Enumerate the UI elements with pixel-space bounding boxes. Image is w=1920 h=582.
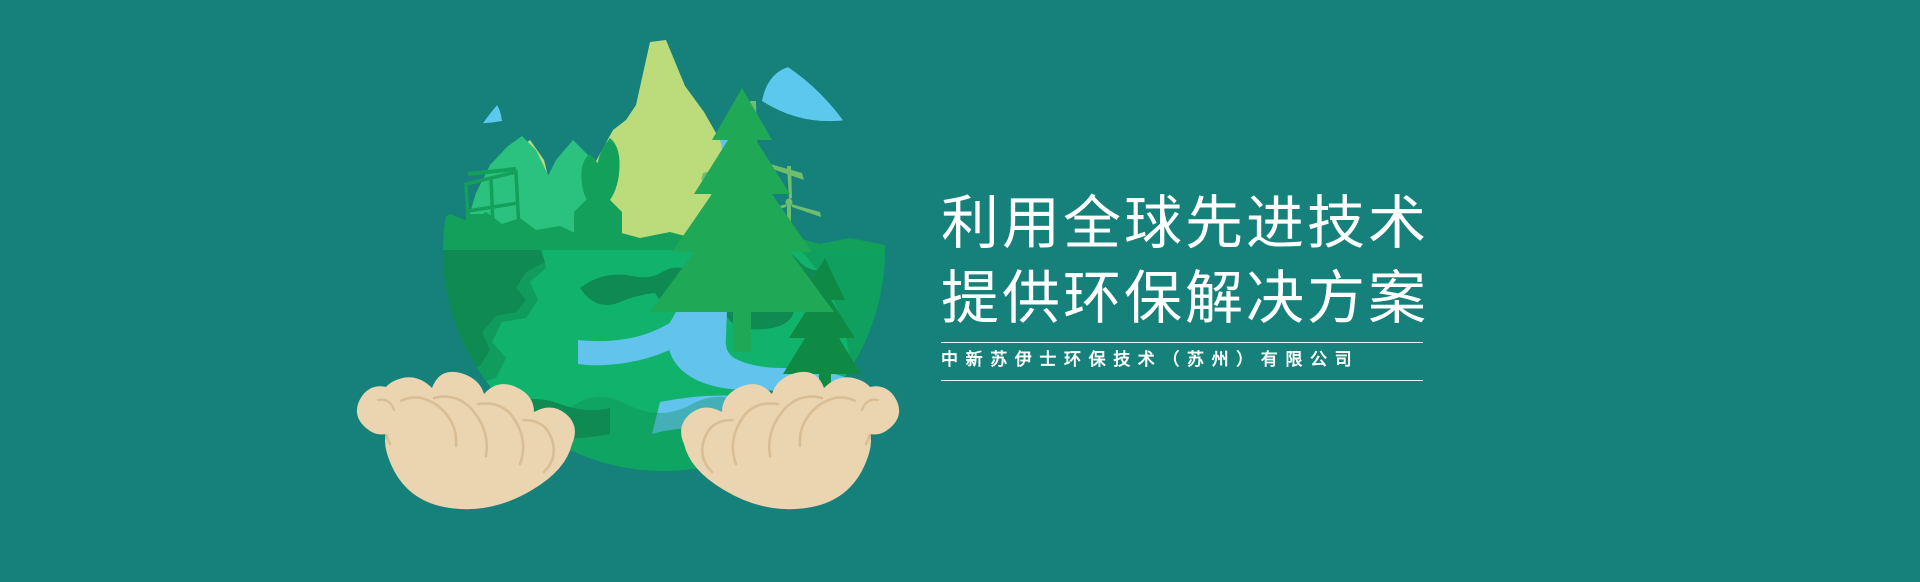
headline-block: 利用全球先进技术 提供环保解决方案 中新苏伊士环保技术（苏州）有限公司 (941, 186, 1441, 381)
solar-panel-array (466, 162, 520, 252)
divider-top (941, 342, 1423, 343)
left-hand-thumb (357, 386, 402, 434)
cloud-small-left (450, 94, 502, 124)
hands-holding-earth-illustration (330, 0, 930, 582)
company-name: 中新苏伊士环保技术（苏州）有限公司 (941, 343, 1441, 375)
divider-bottom (941, 380, 1423, 381)
headline-line-1: 利用全球先进技术 (941, 186, 1441, 261)
right-hand-thumb (854, 386, 899, 434)
headline-line-2: 提供环保解决方案 (941, 261, 1441, 336)
globe-top-hemisphere (430, 20, 900, 255)
promo-banner: 利用全球先进技术 提供环保解决方案 中新苏伊士环保技术（苏州）有限公司 (0, 0, 1920, 582)
